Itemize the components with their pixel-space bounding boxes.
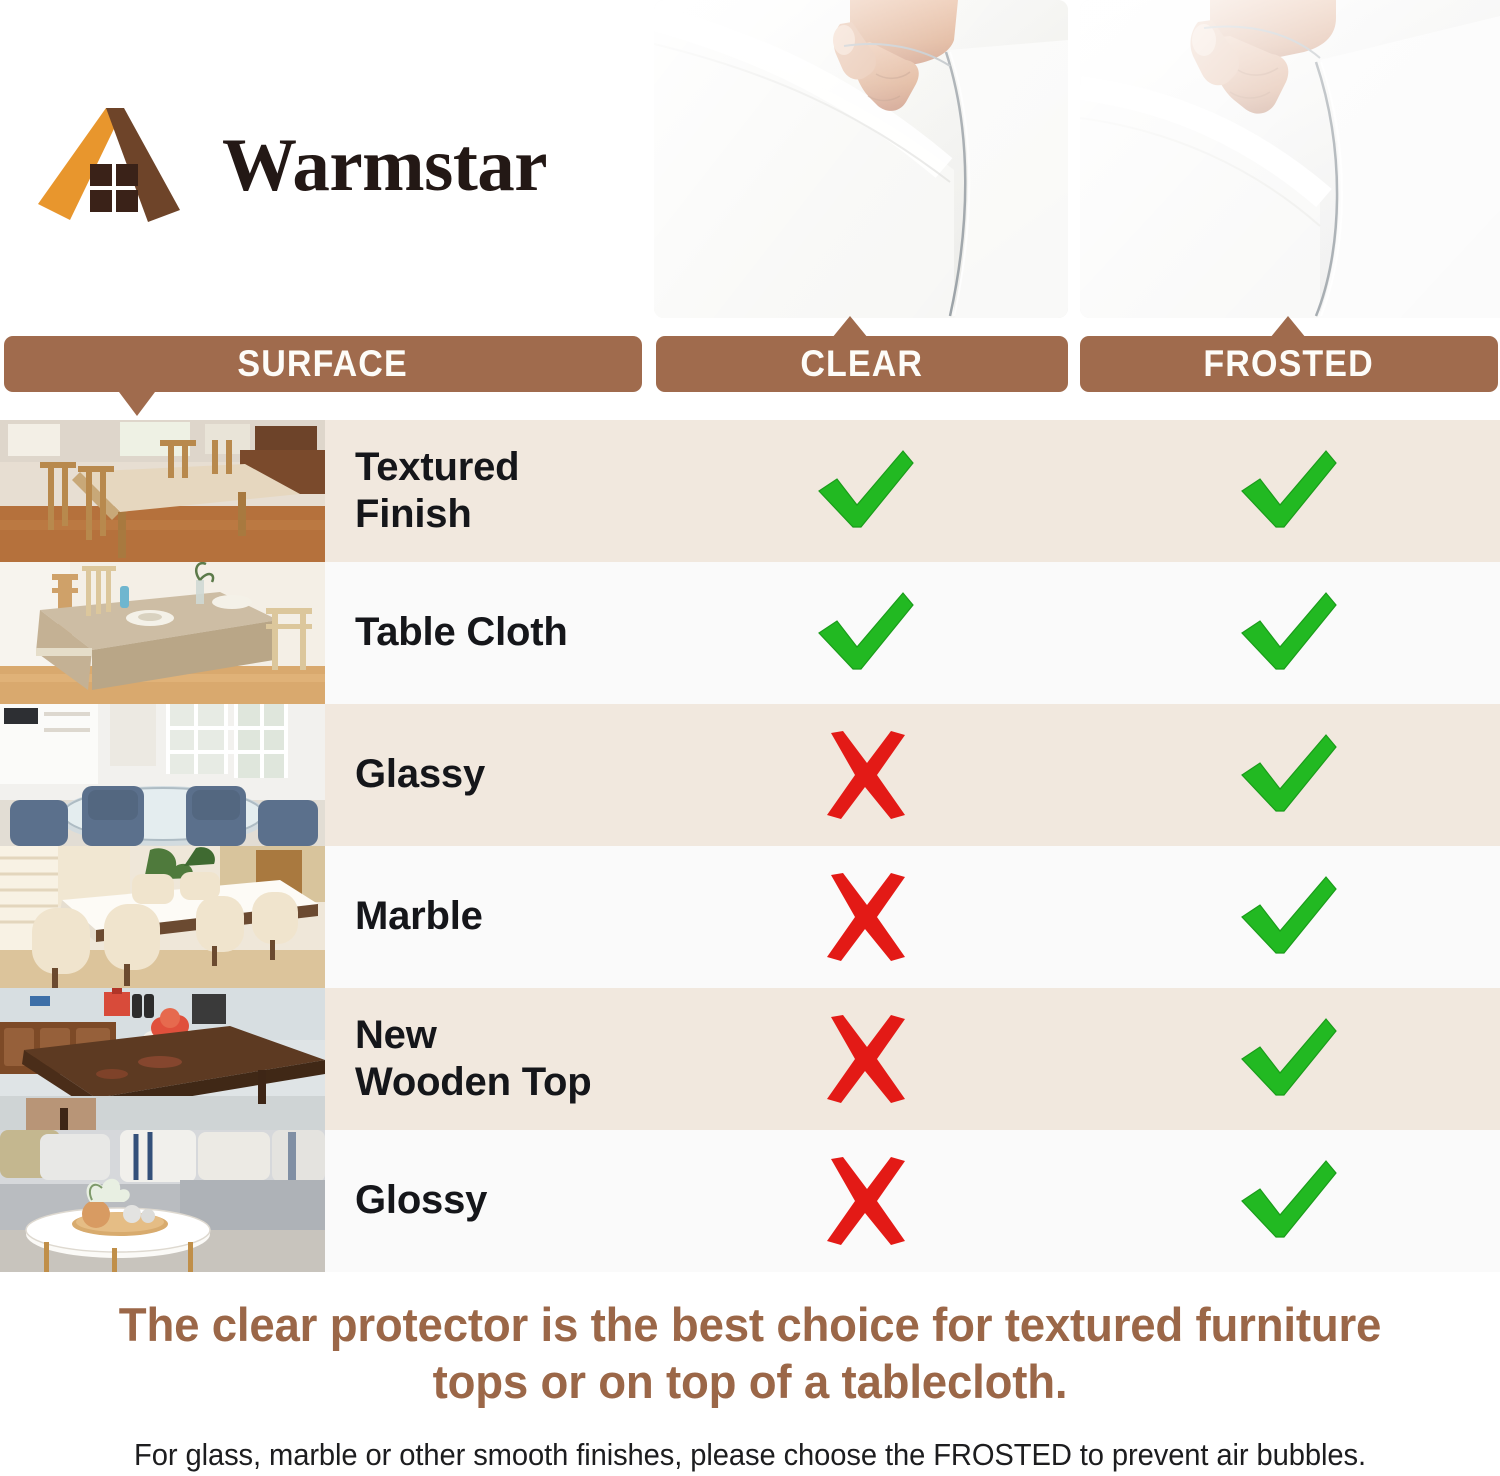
footer-headline-line1: The clear protector is the best choice f… — [71, 1296, 1429, 1353]
brand-name: Warmstar — [222, 128, 547, 203]
cell-clear-mark — [655, 704, 1075, 846]
cell-clear-mark — [655, 846, 1075, 988]
check-icon — [1234, 1017, 1342, 1101]
cell-frosted-mark — [1075, 420, 1500, 562]
cross-icon — [819, 871, 911, 963]
row-label-line1: Glossy — [355, 1177, 487, 1224]
row-label-line1: Marble — [355, 893, 483, 940]
cross-icon — [819, 1013, 911, 1105]
footer-subtitle: For glass, marble or other smooth finish… — [45, 1437, 1455, 1473]
marble-dining-table-photo — [0, 846, 325, 988]
row-label-line2: Finish — [355, 491, 519, 538]
row-label: New Wooden Top — [325, 988, 655, 1130]
wooden-dining-table-photo — [0, 420, 325, 562]
row-label-line1: New — [355, 1012, 591, 1059]
cell-frosted-mark — [1075, 704, 1500, 846]
glossy-coffee-table-photo — [0, 1130, 325, 1272]
new-wooden-top-table-photo — [0, 988, 325, 1130]
check-icon — [811, 449, 919, 533]
cross-icon — [819, 1155, 911, 1247]
top-zone: Warmstar — [0, 0, 1500, 330]
clear-pointer-up-icon — [832, 316, 868, 338]
check-icon — [1234, 1159, 1342, 1243]
row-label-line1: Table Cloth — [355, 609, 568, 656]
tablecloth-table-photo — [0, 562, 325, 704]
column-header-banners: SURFACE CLEAR FROSTED — [0, 336, 1500, 394]
check-icon — [811, 591, 919, 675]
check-icon — [1234, 591, 1342, 675]
footer-headline-line2: tops or on top of a tablecloth. — [71, 1353, 1429, 1410]
row-label-line1: Glassy — [355, 751, 485, 798]
glass-round-table-photo — [0, 704, 325, 846]
table-row: Glassy — [0, 704, 1500, 846]
cell-frosted-mark — [1075, 846, 1500, 988]
check-icon — [1234, 449, 1342, 533]
surface-pointer-down-icon — [119, 392, 155, 416]
clear-protector-photo — [654, 0, 1068, 318]
column-header-clear: CLEAR — [656, 336, 1068, 392]
row-label-line1: Textured — [355, 444, 519, 491]
check-icon — [1234, 733, 1342, 817]
brand-lockup: Warmstar — [28, 95, 628, 235]
table-row: New Wooden Top — [0, 988, 1500, 1130]
row-label-line2: Wooden Top — [355, 1059, 591, 1106]
comparison-table: Textured Finish — [0, 420, 1500, 1272]
cell-clear-mark — [655, 988, 1075, 1130]
row-label: Marble — [325, 846, 655, 988]
house-roof-logo-icon — [28, 100, 208, 230]
frosted-protector-photo — [1080, 0, 1500, 318]
column-header-frosted: FROSTED — [1080, 336, 1498, 392]
row-label: Glossy — [325, 1130, 655, 1272]
footer-text-block: The clear protector is the best choice f… — [0, 1296, 1500, 1473]
cell-frosted-mark — [1075, 988, 1500, 1130]
table-row: Glossy — [0, 1130, 1500, 1272]
column-header-surface-label: SURFACE — [238, 343, 408, 385]
table-row: Table Cloth — [0, 562, 1500, 704]
table-row: Marble — [0, 846, 1500, 988]
row-label: Textured Finish — [325, 420, 655, 562]
footer-headline: The clear protector is the best choice f… — [23, 1296, 1478, 1411]
check-icon — [1234, 875, 1342, 959]
frosted-pointer-up-icon — [1270, 316, 1306, 338]
row-label: Glassy — [325, 704, 655, 846]
column-header-surface: SURFACE — [4, 336, 642, 392]
column-header-frosted-label: FROSTED — [1204, 343, 1374, 385]
column-header-clear-label: CLEAR — [801, 343, 924, 385]
cell-frosted-mark — [1075, 562, 1500, 704]
cell-clear-mark — [655, 562, 1075, 704]
cross-icon — [819, 729, 911, 821]
row-label: Table Cloth — [325, 562, 655, 704]
table-row: Textured Finish — [0, 420, 1500, 562]
cell-clear-mark — [655, 1130, 1075, 1272]
cell-clear-mark — [655, 420, 1075, 562]
cell-frosted-mark — [1075, 1130, 1500, 1272]
